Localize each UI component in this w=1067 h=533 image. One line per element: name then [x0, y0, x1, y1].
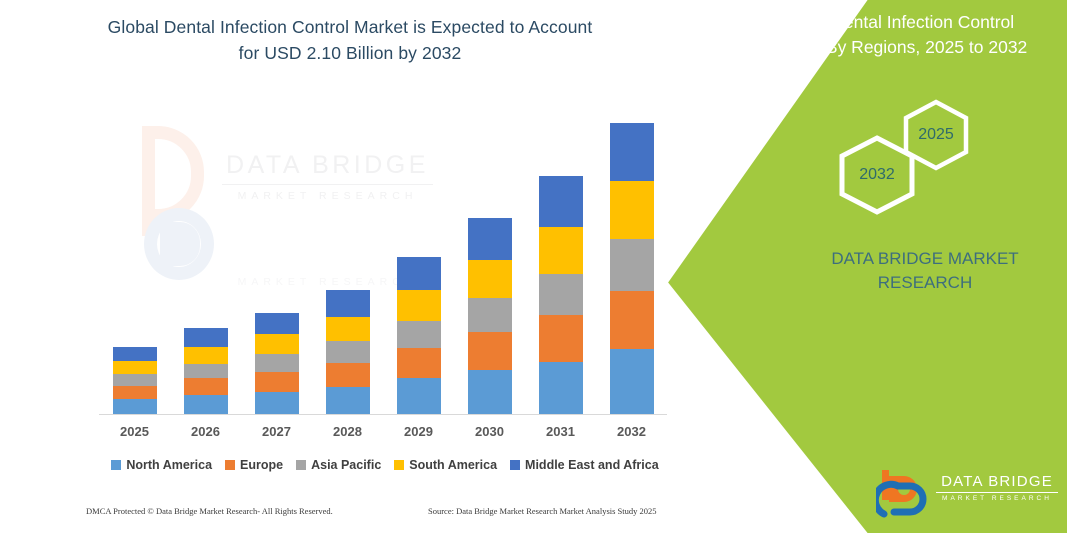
bar-segment — [184, 395, 228, 414]
hex-badge-2025-label: 2025 — [918, 126, 954, 144]
legend-item[interactable]: Europe — [225, 458, 283, 472]
x-axis-label: 2028 — [318, 424, 378, 439]
bar-segment — [397, 257, 441, 291]
bar-column — [255, 313, 299, 414]
side-panel-brand-line-2: RESEARCH — [800, 271, 1050, 295]
x-axis-label: 2032 — [602, 424, 662, 439]
bar-segment — [255, 334, 299, 354]
bar-segment — [539, 176, 583, 227]
bar-segment — [468, 332, 512, 370]
side-panel-title-line-1: Global Dental Infection Control — [735, 10, 1055, 35]
bar-segment — [468, 298, 512, 333]
chart-panel: Global Dental Infection Control Market i… — [0, 0, 700, 533]
chart-title-line-1: Global Dental Infection Control Market i… — [60, 14, 640, 40]
bar-segment — [610, 123, 654, 182]
side-panel-title: Global Dental Infection Control Market, … — [735, 10, 1055, 60]
logo-divider — [936, 492, 1058, 493]
legend-item[interactable]: South America — [394, 458, 497, 472]
x-axis-line — [99, 414, 667, 415]
bar-segment — [184, 328, 228, 347]
bar-segment — [255, 372, 299, 392]
legend-item[interactable]: Middle East and Africa — [510, 458, 659, 472]
bar-segment — [255, 313, 299, 334]
bar-segment — [397, 348, 441, 378]
bar-segment — [539, 227, 583, 273]
data-bridge-logo-text: DATA BRIDGE MARKET RESEARCH — [936, 473, 1058, 502]
x-axis-label: 2027 — [247, 424, 307, 439]
legend-label: North America — [126, 458, 212, 472]
bar-segment — [468, 370, 512, 414]
x-axis-label: 2029 — [389, 424, 449, 439]
infographic-page: Global Dental Infection Control Market i… — [0, 0, 1067, 533]
bar-segment — [397, 290, 441, 320]
bar-segment — [610, 349, 654, 414]
bar-segment — [184, 364, 228, 379]
bar-segment — [113, 386, 157, 400]
logo-line-1: DATA BRIDGE — [936, 473, 1058, 490]
legend-label: South America — [409, 458, 497, 472]
data-bridge-logo: DATA BRIDGE MARKET RESEARCH — [876, 468, 1056, 518]
chart-title: Global Dental Infection Control Market i… — [60, 14, 640, 66]
bar-segment — [468, 260, 512, 298]
bar-segment — [539, 315, 583, 361]
side-panel-brand-name: DATA BRIDGE MARKET RESEARCH — [800, 247, 1050, 295]
legend-swatch-icon — [296, 460, 306, 470]
footer-copyright: DMCA Protected © Data Bridge Market Rese… — [86, 506, 333, 516]
bar-column — [113, 347, 157, 414]
bar-segment — [326, 317, 370, 341]
side-panel-brand-line-1: DATA BRIDGE MARKET — [800, 247, 1050, 271]
bar-segment — [113, 361, 157, 375]
legend-swatch-icon — [225, 460, 235, 470]
bar-segment — [113, 399, 157, 414]
bar-segment — [255, 392, 299, 414]
bar-segment — [610, 291, 654, 349]
logo-line-2: MARKET RESEARCH — [936, 495, 1058, 502]
bar-segment — [184, 378, 228, 395]
x-axis-label: 2026 — [176, 424, 236, 439]
hex-badge-2032-label: 2032 — [859, 166, 895, 184]
bar-column — [326, 290, 370, 414]
legend-swatch-icon — [394, 460, 404, 470]
bar-segment — [326, 363, 370, 387]
bar-segment — [113, 374, 157, 386]
chart-footer: DMCA Protected © Data Bridge Market Rese… — [0, 506, 700, 526]
legend-swatch-icon — [111, 460, 121, 470]
side-panel-title-line-2: Market, By Regions, 2025 to 2032 — [735, 35, 1055, 60]
bar-segment — [397, 321, 441, 348]
bar-segment — [184, 347, 228, 364]
legend-label: Asia Pacific — [311, 458, 381, 472]
x-axis-label: 2030 — [460, 424, 520, 439]
legend-label: Europe — [240, 458, 283, 472]
bar-column — [539, 176, 583, 414]
legend-label: Middle East and Africa — [525, 458, 659, 472]
x-axis-tick-labels: 20252026202720282029203020312032 — [99, 424, 667, 442]
chart-title-line-2: for USD 2.10 Billion by 2032 — [60, 40, 640, 66]
chart-legend: North AmericaEuropeAsia PacificSouth Ame… — [99, 455, 671, 475]
bar-column — [610, 123, 654, 414]
hex-badge-2025: 2025 — [900, 99, 972, 171]
bar-segment — [326, 341, 370, 363]
bar-segment — [610, 239, 654, 291]
bar-segment — [326, 290, 370, 316]
data-bridge-logo-mark — [876, 468, 930, 518]
bar-segment — [397, 378, 441, 414]
x-axis-label: 2031 — [531, 424, 591, 439]
bar-segment — [326, 387, 370, 414]
bar-segment — [113, 347, 157, 361]
b-logo-icon — [876, 468, 930, 518]
bar-segment — [539, 362, 583, 414]
legend-item[interactable]: Asia Pacific — [296, 458, 381, 472]
bar-chart-plot-area — [99, 110, 667, 415]
bar-segment — [539, 274, 583, 316]
bar-column — [397, 257, 441, 414]
bar-segment — [610, 181, 654, 239]
x-axis-label: 2025 — [105, 424, 165, 439]
bar-column — [468, 218, 512, 414]
legend-item[interactable]: North America — [111, 458, 212, 472]
legend-swatch-icon — [510, 460, 520, 470]
bar-segment — [255, 354, 299, 372]
bar-column — [184, 328, 228, 414]
footer-source: Source: Data Bridge Market Research Mark… — [428, 506, 657, 516]
bar-segment — [468, 218, 512, 260]
